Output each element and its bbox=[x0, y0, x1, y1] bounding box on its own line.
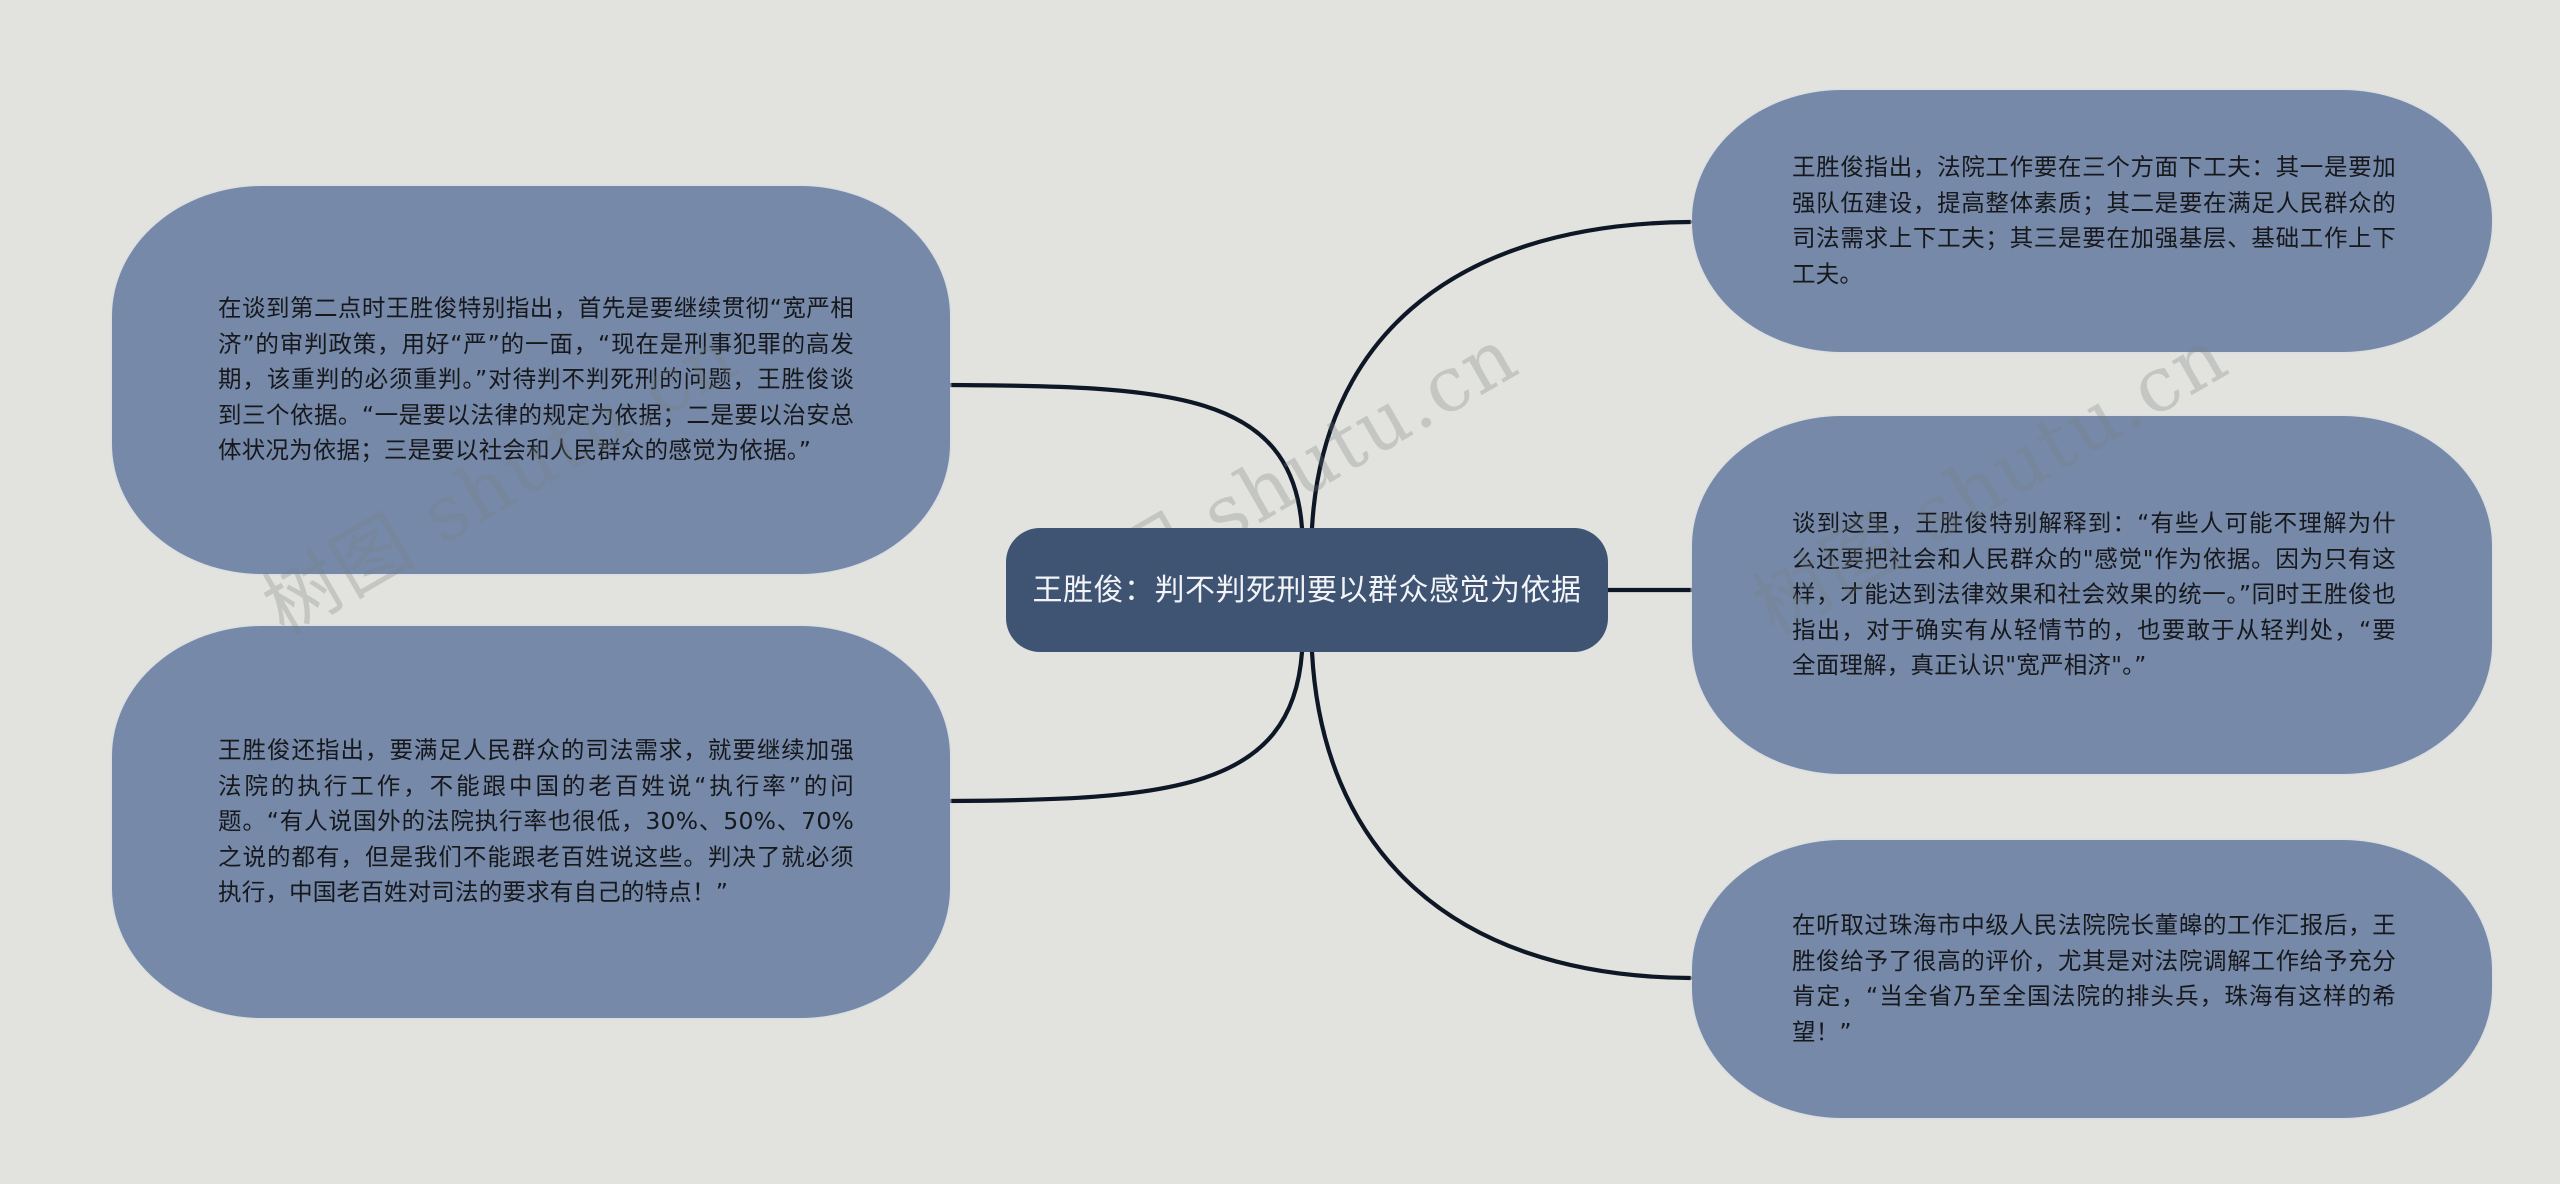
branch-node-text: 在谈到第二点时王胜俊特别指出，首先是要继续贯彻“宽严相济”的审判政策，用好“严”… bbox=[112, 291, 950, 469]
branch-node-bottom-left[interactable]: 王胜俊还指出，要满足人民群众的司法需求，就要继续加强法院的执行工作，不能跟中国的… bbox=[112, 626, 950, 1018]
connector-central-to-top-right bbox=[1312, 222, 1690, 528]
branch-node-text: 王胜俊还指出，要满足人民群众的司法需求，就要继续加强法院的执行工作，不能跟中国的… bbox=[112, 733, 950, 911]
branch-node-bottom-right[interactable]: 在听取过珠海市中级人民法院院长董皞的工作汇报后，王胜俊给予了很高的评价，尤其是对… bbox=[1692, 840, 2492, 1118]
branch-node-text: 在听取过珠海市中级人民法院院长董皞的工作汇报后，王胜俊给予了很高的评价，尤其是对… bbox=[1692, 908, 2492, 1050]
branch-node-top-left[interactable]: 在谈到第二点时王胜俊特别指出，首先是要继续贯彻“宽严相济”的审判政策，用好“严”… bbox=[112, 186, 950, 574]
branch-node-top-right[interactable]: 王胜俊指出，法院工作要在三个方面下工夫：其一是要加强队伍建设，提高整体素质；其二… bbox=[1692, 90, 2492, 352]
central-topic-node[interactable]: 王胜俊：判不判死刑要以群众感觉为依据 bbox=[1006, 528, 1608, 652]
branch-node-text: 谈到这里，王胜俊特别解释到：“有些人可能不理解为什么还要把社会和人民群众的"感觉… bbox=[1692, 506, 2492, 684]
central-topic-text: 王胜俊：判不判死刑要以群众感觉为依据 bbox=[1007, 570, 1608, 611]
connector-central-to-bottom-right bbox=[1312, 652, 1690, 978]
connector-central-to-top-left bbox=[946, 385, 1302, 528]
branch-node-mid-right[interactable]: 谈到这里，王胜俊特别解释到：“有些人可能不理解为什么还要把社会和人民群众的"感觉… bbox=[1692, 416, 2492, 774]
mindmap-canvas: 树图 shutu.cn 树图 shutu.cn 树图 shutu.cn 在谈到第… bbox=[0, 0, 2560, 1184]
connector-central-to-bottom-left bbox=[946, 652, 1302, 801]
branch-node-text: 王胜俊指出，法院工作要在三个方面下工夫：其一是要加强队伍建设，提高整体素质；其二… bbox=[1692, 150, 2492, 292]
